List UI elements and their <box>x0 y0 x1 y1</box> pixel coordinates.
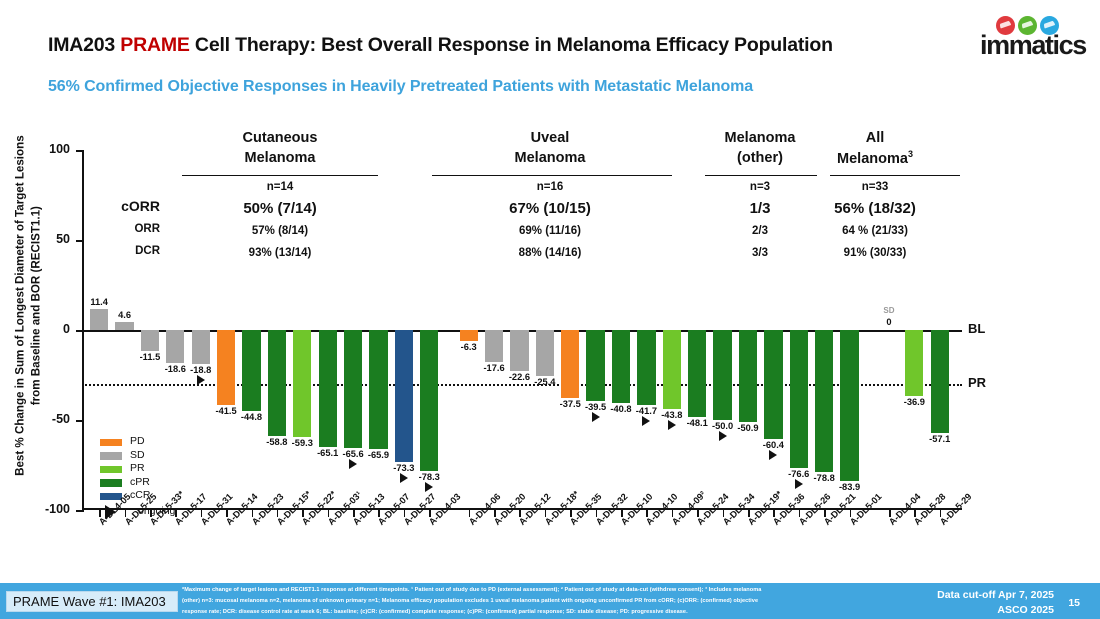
chart-bar <box>420 330 438 471</box>
chart-bar <box>637 330 655 405</box>
legend-label: SD <box>130 449 145 461</box>
legend-label: cPR <box>130 476 150 488</box>
bar-value-label: -78.3 <box>407 472 451 482</box>
bar-value-label: 4.6 <box>102 310 146 320</box>
legend-item-cpr: cPR <box>100 476 210 490</box>
chart-bar <box>536 330 554 376</box>
chart-bar <box>268 330 286 436</box>
legend-swatch-icon <box>100 466 122 474</box>
y-axis-tick <box>76 240 84 242</box>
y-axis-tick-label: 0 <box>26 322 70 336</box>
ongoing-marker-icon <box>425 482 433 492</box>
chart-bar <box>688 330 706 417</box>
ongoing-marker-icon <box>349 459 357 469</box>
y-axis-tick <box>76 330 84 332</box>
chart-bar <box>166 330 184 363</box>
slide-header: IMA203 PRAME Cell Therapy: Best Overall … <box>0 0 1100 112</box>
chart-bar <box>790 330 808 468</box>
chart-bar <box>510 330 528 371</box>
page-title: IMA203 PRAME Cell Therapy: Best Overall … <box>48 34 833 57</box>
title-suffix: Cell Therapy: Best Overall Response in M… <box>190 34 833 56</box>
slide-footer: PRAME Wave #1: IMA203 *Maximum change of… <box>0 583 1100 619</box>
chart-bar <box>293 330 311 437</box>
data-cutoff-label: Data cut-off Apr 7, 2025 <box>884 588 1054 603</box>
page-subtitle: 56% Confirmed Objective Responses in Hea… <box>48 78 753 96</box>
legend-label: PD <box>130 435 145 447</box>
chart-bar <box>460 330 478 341</box>
reference-line-label-bl: BL <box>968 321 985 336</box>
y-axis-tick <box>76 150 84 152</box>
chart-bar <box>931 330 949 433</box>
bar-value-label: -83.9 <box>827 482 871 492</box>
y-axis-tick-label: 100 <box>26 142 70 156</box>
chart-bar <box>141 330 159 351</box>
chart-bar <box>369 330 387 449</box>
legend-swatch-icon <box>100 439 122 447</box>
title-highlight: PRAME <box>120 34 189 56</box>
legend-swatch-icon <box>100 479 122 487</box>
ongoing-marker-icon <box>769 450 777 460</box>
chart-bar <box>192 330 210 364</box>
y-axis-tick <box>76 420 84 422</box>
chart-bar <box>905 330 923 396</box>
logo-wordmark: immatics <box>980 32 1072 59</box>
footnote-line-3: response rate; DCR: disease control rate… <box>182 607 882 618</box>
chart-bar <box>612 330 630 403</box>
y-axis-tick-label: 50 <box>26 232 70 246</box>
bar-response-tag: SD <box>867 306 911 315</box>
y-axis-tick-label: -100 <box>26 502 70 516</box>
y-axis-label: Best % Change in Sum of Longest Diameter… <box>12 126 43 486</box>
legend-item-pd: PD <box>100 435 210 449</box>
title-prefix: IMA203 <box>48 34 120 56</box>
chart-bar <box>217 330 235 405</box>
legend-swatch-icon <box>100 452 122 460</box>
footnote-text: *Maximum change of target lesions and RE… <box>182 585 882 618</box>
chart-bar <box>395 330 413 462</box>
chart-bar <box>344 330 362 448</box>
bar-value-label: 0 <box>867 317 911 327</box>
page-number: 15 <box>1068 597 1080 609</box>
chart-bar <box>115 322 133 330</box>
footer-meta: Data cut-off Apr 7, 2025 ASCO 2025 <box>884 588 1054 618</box>
legend-item-pr: PR <box>100 462 210 476</box>
reference-line-label-pr: PR <box>968 375 986 390</box>
ongoing-marker-icon <box>197 375 205 385</box>
chart-bar <box>485 330 503 362</box>
footnote-line-1: *Maximum change of target lesions and RE… <box>182 585 882 596</box>
legend-item-sd: SD <box>100 449 210 463</box>
chart-bar <box>586 330 604 401</box>
legend-label: PR <box>130 462 145 474</box>
chart-bar <box>319 330 337 447</box>
immatics-logo: immatics <box>980 16 1072 78</box>
chart-bar <box>840 330 858 481</box>
conference-label: ASCO 2025 <box>884 603 1054 618</box>
chart-bar <box>764 330 782 439</box>
footnote-line-2: (other) n=3: mucosal melanoma n=2, melan… <box>182 596 882 607</box>
y-axis-tick <box>76 510 84 512</box>
bar-value-label: -57.1 <box>918 434 962 444</box>
chart-bar <box>815 330 833 472</box>
chart-bar <box>561 330 579 398</box>
footer-tag: PRAME Wave #1: IMA203 <box>6 591 178 612</box>
y-axis-tick-label: -50 <box>26 412 70 426</box>
chart-bar <box>739 330 757 422</box>
chart-bar <box>663 330 681 409</box>
bar-value-label: 11.4 <box>77 297 121 307</box>
chart-bar <box>242 330 260 411</box>
waterfall-chart: Best % Change in Sum of Longest Diameter… <box>0 140 1000 520</box>
chart-bar <box>713 330 731 420</box>
